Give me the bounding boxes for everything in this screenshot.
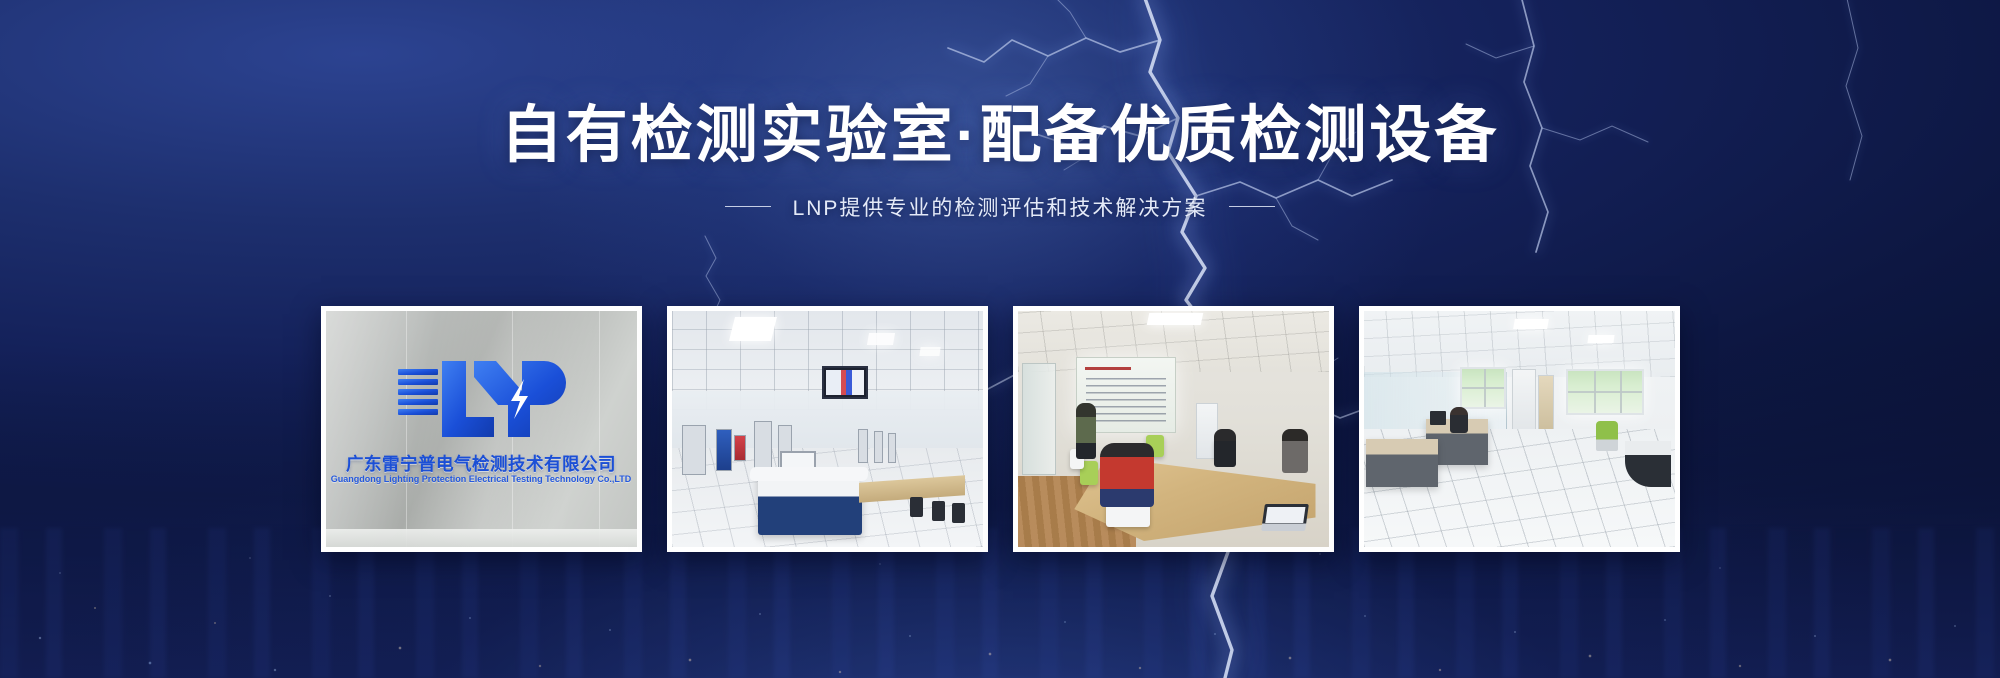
photo-office-area: [1364, 311, 1675, 547]
person-presenter: [1076, 403, 1096, 459]
office-chair-green: [1596, 421, 1618, 451]
person-at-desk: [1450, 407, 1468, 433]
ceiling-light-3: [919, 347, 940, 356]
office-ceiling-light-1: [1513, 319, 1549, 329]
logo-caption-cn: 广东雷宁普电气检测技术有限公司: [326, 451, 637, 476]
office-ceiling-light-2: [1587, 335, 1614, 343]
office-window-1: [1460, 367, 1506, 409]
test-rack-back-3: [888, 433, 896, 463]
wall-baseboard: [326, 529, 637, 547]
office-desk-2: [1366, 439, 1438, 487]
photo-testing-laboratory: [672, 311, 983, 547]
gallery-card-training-meeting-room[interactable]: [1013, 306, 1334, 552]
meeting-room-door: [1022, 363, 1056, 475]
window-mullion-h-2: [1568, 391, 1642, 393]
wall-seam-3: [599, 311, 600, 547]
office-shelf: [1538, 375, 1554, 431]
test-rack-blue-1: [716, 429, 732, 471]
rule-right-icon: [1229, 206, 1275, 207]
ceiling-light-1: [729, 317, 777, 341]
wall-monitor-screen: [826, 370, 864, 395]
test-rack-back-1: [858, 429, 868, 463]
desktop-monitor-icon: [1430, 411, 1446, 425]
lab-chair-2: [932, 501, 945, 521]
photo-training-meeting-room: [1018, 311, 1329, 547]
photo-gallery: 广东雷宁普电气检测技术有限公司 Guangdong Lighting Prote…: [0, 306, 2000, 552]
person-seated-grey: [1282, 429, 1308, 473]
person-seated-red: [1100, 443, 1154, 507]
gallery-card-company-logo-wall[interactable]: 广东雷宁普电气检测技术有限公司 Guangdong Lighting Prote…: [321, 306, 642, 552]
hero-banner: 自有检测实验室·配备优质检测设备 LNP提供专业的检测评估和技术解决方案: [0, 0, 2000, 678]
lnp-logo-icon: [396, 355, 566, 443]
photo-company-logo-wall: 广东雷宁普电气检测技术有限公司 Guangdong Lighting Prote…: [326, 311, 637, 547]
laptop-screen: [1265, 507, 1305, 523]
console-worktop: [749, 467, 868, 481]
office-cabinet: [1512, 369, 1536, 433]
page-title: 自有检测实验室·配备优质检测设备: [0, 103, 2000, 170]
laptop-icon: [1261, 504, 1309, 531]
lab-chair-1: [910, 497, 923, 517]
banner-subtitle: LNP提供专业的检测评估和技术解决方案: [793, 192, 1208, 222]
test-rack-left: [682, 425, 706, 475]
window-mullion-h-1: [1462, 387, 1504, 389]
person-seated-black: [1214, 429, 1236, 467]
banner-copy: 自有检测实验室·配备优质检测设备 LNP提供专业的检测评估和技术解决方案: [0, 0, 2000, 222]
slide-title-bar: [1085, 367, 1131, 370]
gallery-card-testing-laboratory[interactable]: [667, 306, 988, 552]
control-console: [758, 473, 862, 535]
meeting-ceiling-light: [1146, 313, 1203, 325]
slide-body-lines: [1086, 378, 1166, 424]
office-window-2: [1566, 369, 1644, 415]
test-rack-mid: [754, 421, 772, 471]
ceiling-light-2: [866, 333, 894, 345]
banner-subtitle-row: LNP提供专业的检测评估和技术解决方案: [0, 192, 2000, 222]
logo-caption-en: Guangdong Lighting Protection Electrical…: [326, 474, 637, 484]
lab-chair-3: [952, 503, 965, 523]
gallery-card-office-area[interactable]: [1359, 306, 1680, 552]
wall-monitor-icon: [822, 366, 868, 399]
test-rack-back-2: [874, 431, 883, 463]
rule-left-icon: [725, 206, 771, 207]
test-rack-red-1: [734, 435, 746, 461]
